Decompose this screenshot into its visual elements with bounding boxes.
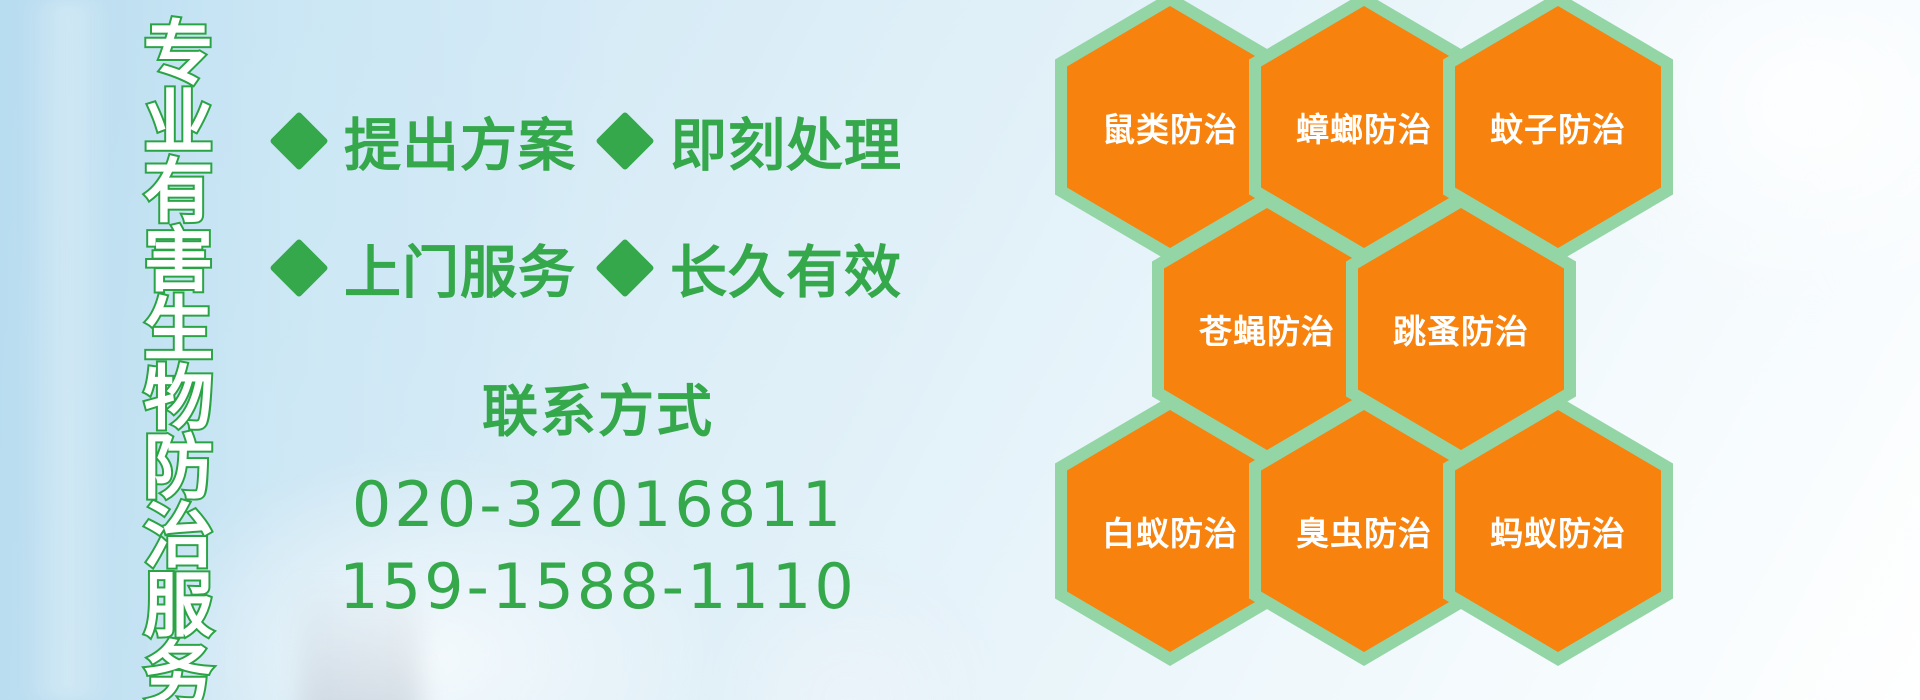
diamond-bullet-icon	[595, 238, 654, 297]
background-light-streak	[20, 0, 110, 700]
feature-list: 提出方案 即刻处理 上门服务 长久有效	[278, 86, 898, 323]
vertical-headline: 专业有害生物防治服务	[112, 16, 208, 700]
contact-phone-landline[interactable]: 020-32016811	[278, 464, 918, 546]
feature-row: 上门服务 长久有效	[278, 213, 898, 323]
feature-item: 长久有效	[604, 227, 902, 309]
diamond-bullet-icon	[269, 111, 328, 170]
contact-heading: 联系方式	[278, 380, 918, 444]
hexagon-inner: 白蚁防治	[1067, 410, 1273, 652]
feature-label: 长久有效	[670, 227, 902, 309]
service-hexagon-grid: 鼠类防治 蟑螂防治 蚊子防治 苍蝇防治 跳蚤防治 白蚁防治	[1055, 0, 1675, 700]
feature-item: 上门服务	[278, 227, 576, 309]
feature-label: 提出方案	[344, 100, 576, 182]
feature-item: 即刻处理	[604, 100, 902, 182]
service-label: 蚂蚁防治	[1490, 507, 1626, 555]
service-label: 蚊子防治	[1490, 103, 1626, 151]
feature-row: 提出方案 即刻处理	[278, 86, 898, 196]
feature-item: 提出方案	[278, 100, 576, 182]
contact-phone-mobile[interactable]: 159-1588-1110	[278, 546, 918, 628]
feature-label: 即刻处理	[670, 100, 902, 182]
service-label: 蟑螂防治	[1296, 103, 1432, 151]
service-label: 跳蚤防治	[1393, 305, 1529, 353]
feature-label: 上门服务	[344, 227, 576, 309]
service-label: 鼠类防治	[1102, 103, 1238, 151]
diamond-bullet-icon	[595, 111, 654, 170]
hexagon-inner: 蚂蚁防治	[1455, 410, 1661, 652]
service-label: 臭虫防治	[1296, 507, 1432, 555]
hexagon-inner: 臭虫防治	[1261, 410, 1467, 652]
diamond-bullet-icon	[269, 238, 328, 297]
pest-control-banner: 专业有害生物防治服务 提出方案 即刻处理 上门服务 长久有效 联	[0, 0, 1920, 700]
service-label: 白蚁防治	[1102, 507, 1238, 555]
service-label: 苍蝇防治	[1199, 305, 1335, 353]
contact-block: 联系方式 020-32016811 159-1588-1110	[278, 380, 918, 628]
